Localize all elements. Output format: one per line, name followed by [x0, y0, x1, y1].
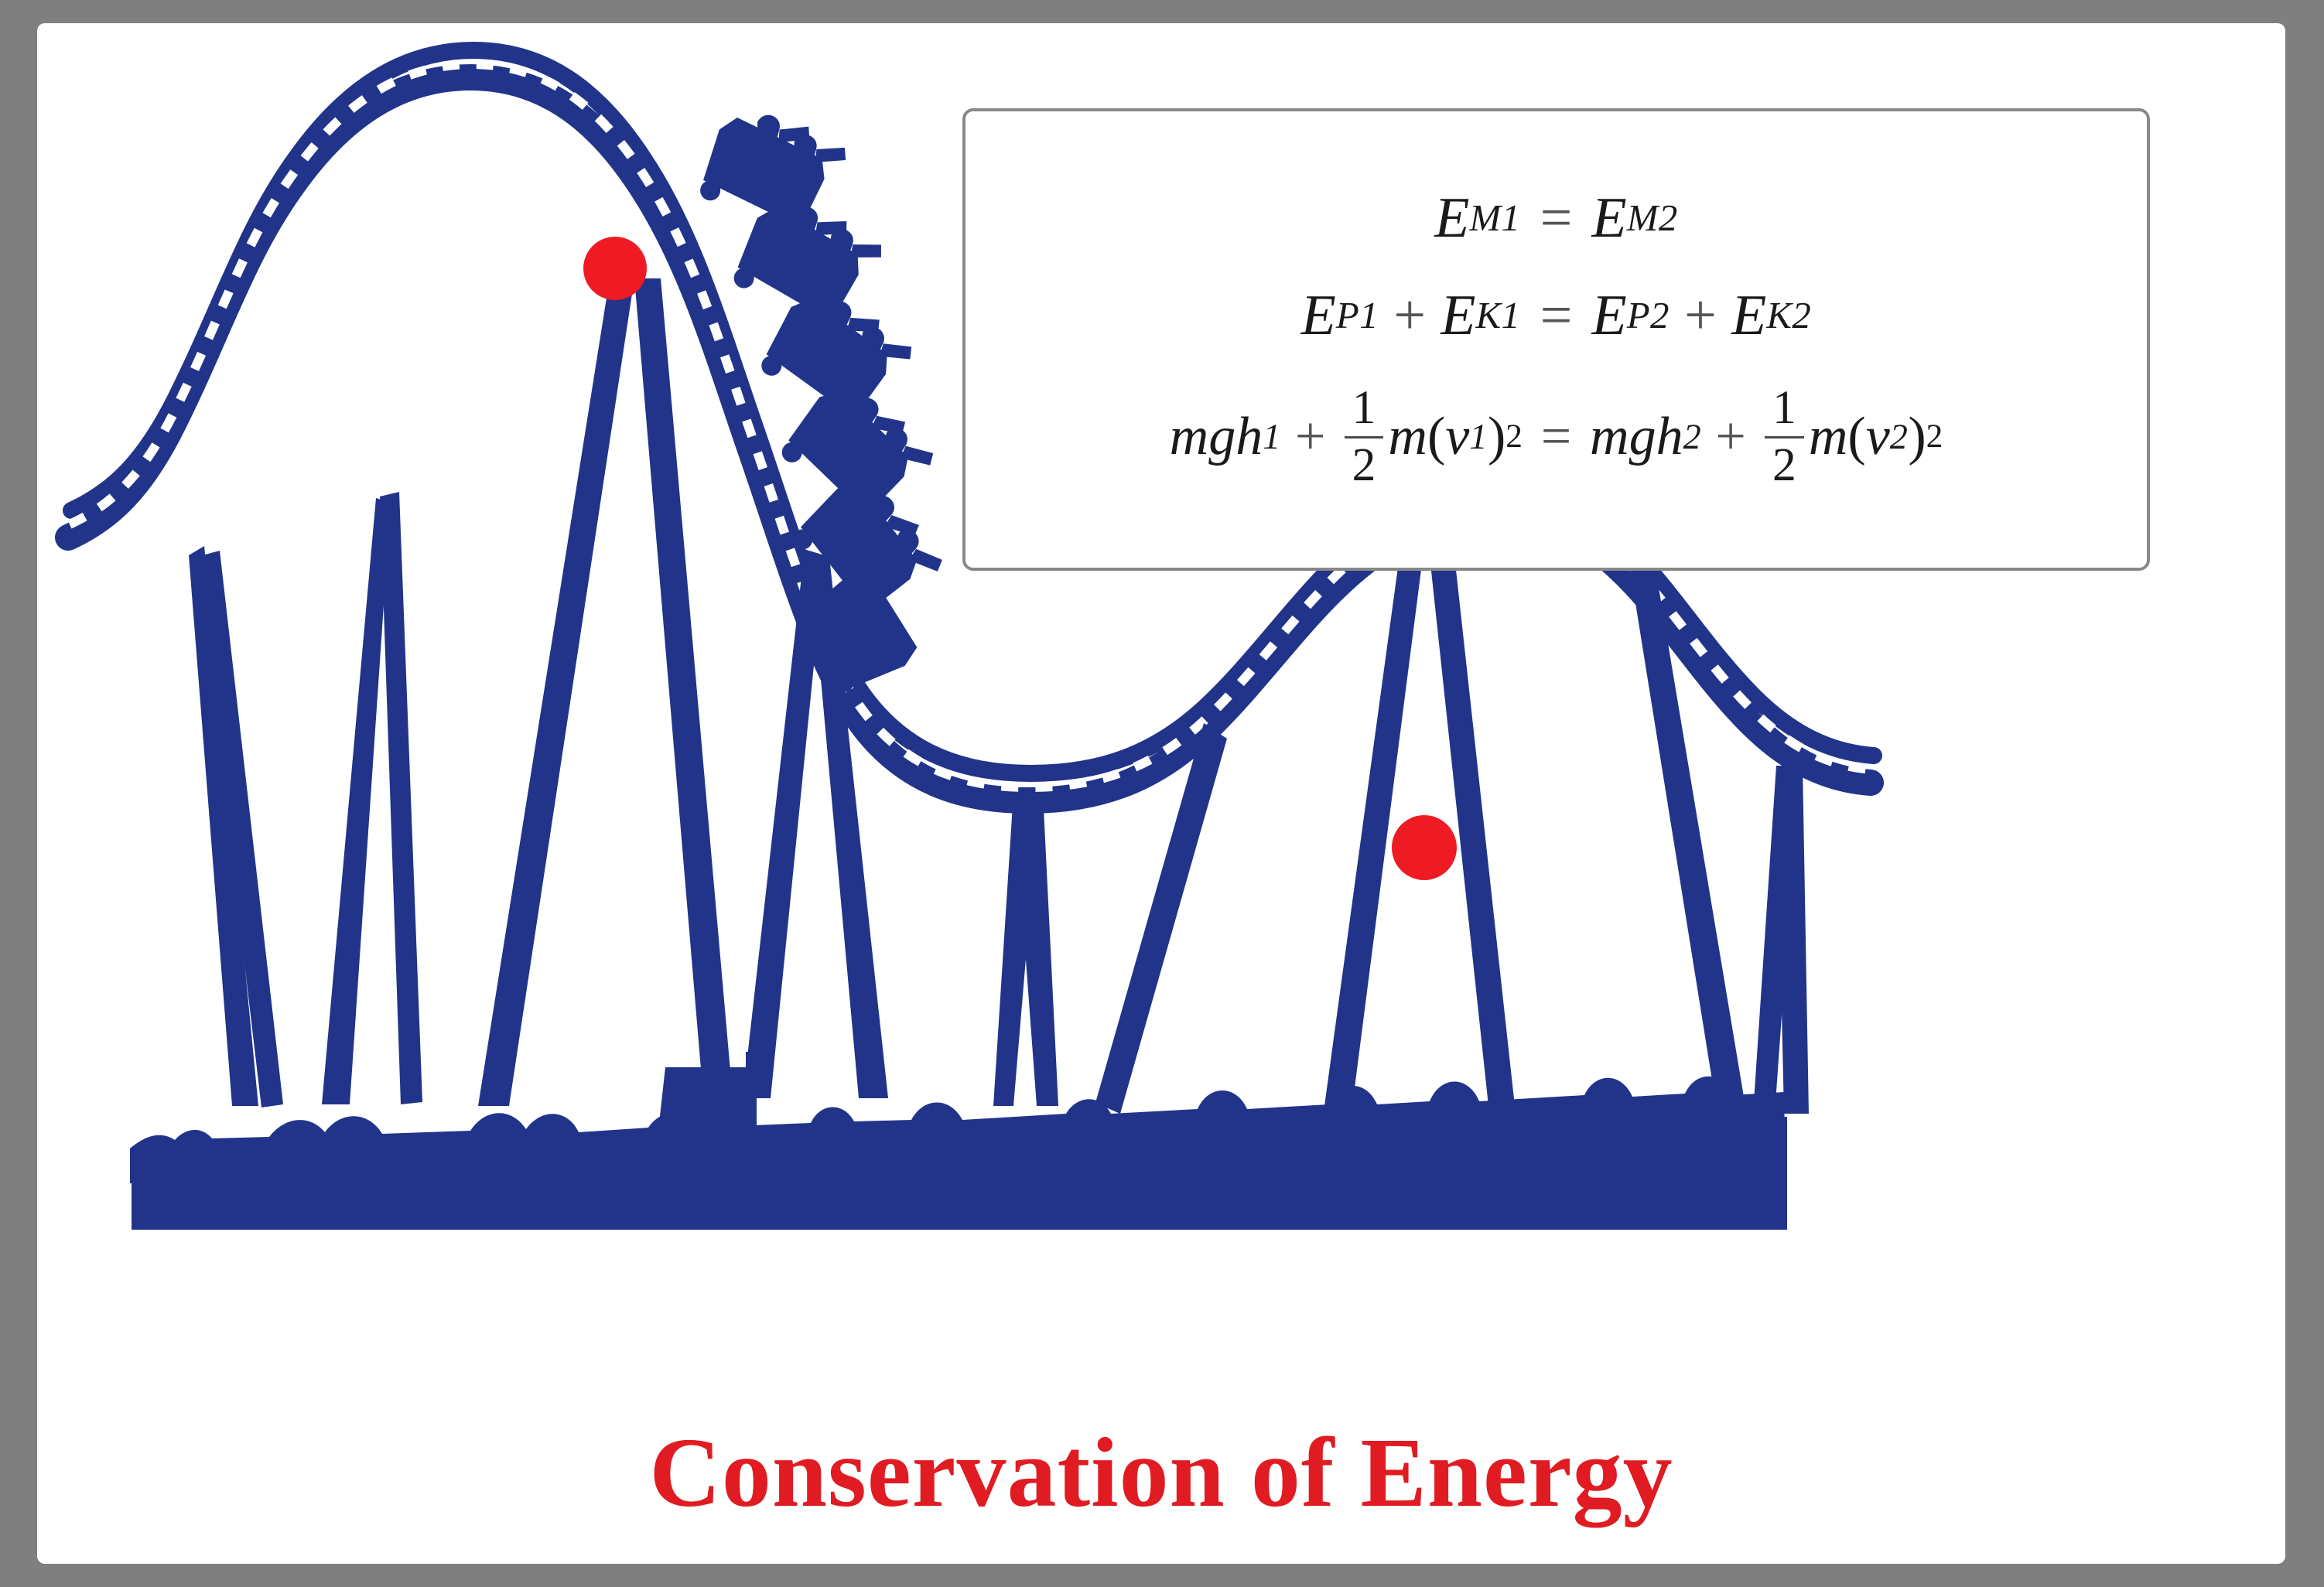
formula-fraction-half-2: 12 [1765, 384, 1803, 490]
formula-operator-plus-3: + [1295, 410, 1325, 464]
energy-point-1-marker [583, 237, 647, 300]
ground-silhouette [130, 1052, 1787, 1230]
formula-subscript-EM1: M1 [1469, 200, 1520, 237]
formula-symbol-EK2-base: E [1731, 287, 1766, 344]
page-title: Conservation of Energy [37, 1423, 2285, 1522]
formula-line-2: EP1+EK1=EP2+EK2 [1301, 287, 1812, 344]
formula-power-1: 2 [1505, 420, 1523, 453]
formula-fraction-half-1: 12 [1345, 384, 1383, 490]
support-structure-hill-1 [189, 278, 888, 1107]
poster-canvas: EM1=EM2 EP1+EK1=EP2+EK2 mgh1+12m(v1)2=mg… [37, 23, 2285, 1564]
formula-subscript-EK2: K2 [1766, 297, 1811, 335]
formula-operator-plus-4: + [1715, 410, 1745, 464]
formula-symbol-EM2-base: E [1592, 189, 1627, 247]
formula-subscript-v2: 2 [1890, 419, 1909, 455]
formula-power-2: 2 [1926, 420, 1943, 453]
formula-panel: EM1=EM2 EP1+EK1=EP2+EK2 mgh1+12m(v1)2=mg… [962, 108, 2150, 571]
formula-operator-plus-2: + [1684, 287, 1717, 344]
formula-subscript-EK1: K1 [1476, 297, 1521, 335]
energy-point-2-marker [1392, 815, 1457, 880]
formula-paren-open-2: ( [1847, 410, 1865, 464]
formula-symbol-mgh1-base: mgh [1170, 410, 1263, 464]
fraction-numerator-2: 1 [1765, 384, 1803, 433]
formula-subscript-EP1: P1 [1336, 297, 1379, 335]
formula-operator-plus-1: + [1393, 287, 1426, 344]
formula-symbol-m-1: m [1388, 410, 1427, 464]
fraction-bar-1 [1345, 436, 1383, 439]
fraction-bar-2 [1765, 436, 1803, 439]
poster-frame: EM1=EM2 EP1+EK1=EP2+EK2 mgh1+12m(v1)2=mg… [0, 0, 2324, 1587]
formula-symbol-mgh2-base: mgh [1590, 410, 1683, 464]
formula-symbol-m-2: m [1809, 410, 1848, 464]
formula-paren-open-1: ( [1427, 410, 1445, 464]
formula-symbol-EK1-base: E [1441, 287, 1475, 344]
formula-line-3: mgh1+12m(v1)2=mgh2+12m(v2)2 [1170, 384, 1943, 490]
formula-subscript-v1: 1 [1469, 419, 1488, 455]
formula-relation-2: = [1540, 287, 1573, 344]
formula-symbol-EP2-base: E [1592, 287, 1627, 344]
formula-symbol-EM1-base: E [1434, 189, 1469, 247]
formula-relation-1: = [1540, 189, 1573, 247]
formula-subscript-EM2: M2 [1627, 200, 1678, 237]
formula-subscript-mgh1: 1 [1263, 419, 1281, 455]
formula-relation-3: = [1541, 410, 1571, 464]
fraction-numerator-1: 1 [1345, 384, 1383, 433]
formula-symbol-EP1-base: E [1301, 287, 1336, 344]
formula-subscript-mgh2: 2 [1683, 419, 1702, 455]
formula-subscript-EP2: P2 [1627, 297, 1670, 335]
formula-paren-close-2: ) [1908, 410, 1926, 464]
fraction-denominator-1: 2 [1345, 441, 1383, 490]
formula-paren-close-1: ) [1488, 410, 1505, 464]
formula-symbol-v1-base: v [1445, 410, 1469, 464]
formula-line-1: EM1=EM2 [1434, 189, 1678, 247]
fraction-denominator-2: 2 [1765, 441, 1803, 490]
formula-symbol-v2-base: v [1866, 410, 1890, 464]
